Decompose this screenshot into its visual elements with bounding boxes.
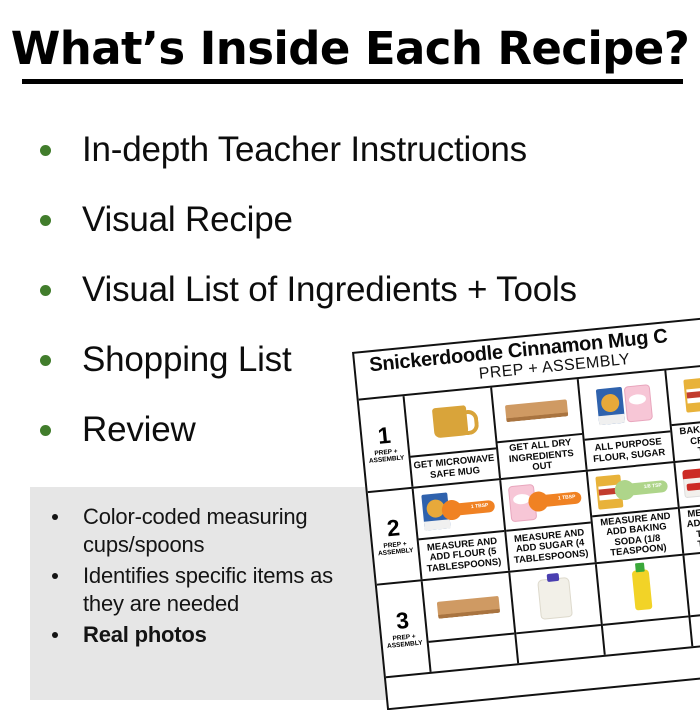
bullet-icon: [40, 145, 51, 156]
sugar-bag-icon: [623, 384, 652, 422]
cell-art: [579, 371, 670, 439]
step-number: 2: [386, 516, 401, 540]
table-cell: [510, 564, 606, 663]
callout-list-item: Real photos: [40, 621, 376, 649]
cell-art: 1 TBSP: [501, 472, 591, 530]
callout-item-label: Identifies specific items as they are ne…: [83, 563, 333, 616]
list-item: Visual List of Ingredients + Tools: [30, 255, 690, 325]
cell-art: [597, 556, 688, 624]
table-cell: GET ALL DRY INGREDIENTS OUT: [492, 379, 588, 478]
cell-art: [666, 362, 700, 424]
list-item-label: Visual Recipe: [82, 200, 293, 239]
flour-bag-icon: [596, 387, 625, 425]
milk-jug-icon: [537, 577, 573, 620]
table-cell: 1/8 TSP MEASURE AND ADD BAKING SODA (1/8…: [588, 463, 684, 562]
cell-art: [510, 564, 601, 632]
bullet-icon: [40, 285, 51, 296]
cell-art: [492, 379, 582, 441]
table-cell: 1 TBSP MEASURE AND ADD FLOUR (5 TABLESPO…: [414, 480, 510, 579]
table-cell: ALL PURPOSE FLOUR, SUGAR: [579, 370, 675, 469]
spoon-size-label: 1/8 TSP: [643, 482, 662, 490]
recipe-chart-image: Snickerdoodle Cinnamon Mug C PREP + ASSE…: [352, 313, 700, 710]
cell-label: MEASURE AND ADD BAKING SODA (1/8 TEASPOO…: [592, 507, 682, 562]
cell-label: MEASURE AND ADD SUGAR (4 TABLESPOONS): [506, 522, 595, 571]
table-cell: 1 TBSP MEASURE AND ADD SUGAR (4 TABLESPO…: [501, 472, 597, 571]
cutting-board-icon: [436, 595, 499, 618]
measuring-spoon-icon: 1 TBSP: [537, 491, 582, 507]
title-underline: [22, 79, 683, 84]
cell-label: MEASURE AND ADD FLOUR (5 TABLESPOONS): [419, 530, 508, 579]
cream-of-tartar-jar-icon: [682, 468, 700, 498]
list-item-label: Shopping List: [82, 340, 292, 379]
step-number: 3: [395, 608, 410, 632]
cell-label: GET ALL DRY INGREDIENTS OUT: [497, 433, 586, 478]
bullet-icon: [40, 355, 51, 366]
callout-box: Color-coded measuring cups/spoons Identi…: [30, 487, 388, 700]
callout-item-label: Color-coded measuring cups/spoons: [83, 504, 307, 557]
mug-icon: [432, 405, 469, 438]
callout-list-item: Color-coded measuring cups/spoons: [40, 503, 376, 559]
measuring-spoon-icon: 1/8 TSP: [623, 480, 668, 496]
cell-art: [405, 388, 496, 456]
list-item: Visual Recipe: [30, 185, 690, 255]
bullet-icon: [40, 215, 51, 226]
cell-art: [423, 573, 514, 641]
step-phase-label: PREP + ASSEMBLY: [382, 633, 427, 651]
cell-art: 1/4 TSP: [675, 455, 700, 507]
step-phase-label: PREP + ASSEMBLY: [373, 540, 418, 558]
list-item-label: Review: [82, 410, 196, 449]
callout-list-item: Identifies specific items as they are ne…: [40, 562, 376, 618]
spoon-size-label: 1 TBSP: [471, 502, 489, 510]
table-cell: [423, 573, 519, 672]
step-number: 1: [377, 423, 392, 447]
bullet-icon: [40, 425, 51, 436]
callout-item-label: Real photos: [83, 622, 207, 647]
table-cell: GET MICROWAVE SAFE MUG: [405, 388, 501, 487]
step-phase-label: PREP + ASSEMBLY: [364, 448, 409, 466]
callout-list: Color-coded measuring cups/spoons Identi…: [40, 503, 376, 649]
measuring-spoon-icon: 1 TBSP: [450, 500, 495, 516]
cutting-board-icon: [505, 399, 568, 422]
bullet-icon: [52, 514, 58, 520]
page-title: What’s Inside Each Recipe?: [0, 22, 700, 75]
list-item-label: Visual List of Ingredients + Tools: [82, 270, 577, 309]
list-item: In-depth Teacher Instructions: [30, 115, 690, 185]
cell-label: MEASURE AND ADD CREAM OF TARTAR (1/4 TEA…: [679, 498, 700, 553]
spoon-size-label: 1 TBSP: [558, 494, 576, 502]
table-cell: [597, 556, 693, 655]
bullet-icon: [52, 632, 58, 638]
list-item-label: In-depth Teacher Instructions: [82, 130, 527, 169]
oil-bottle-icon: [632, 569, 653, 610]
cell-art: 1 TBSP: [414, 480, 504, 538]
bullet-icon: [52, 573, 58, 579]
baking-soda-box-icon: [683, 377, 700, 412]
